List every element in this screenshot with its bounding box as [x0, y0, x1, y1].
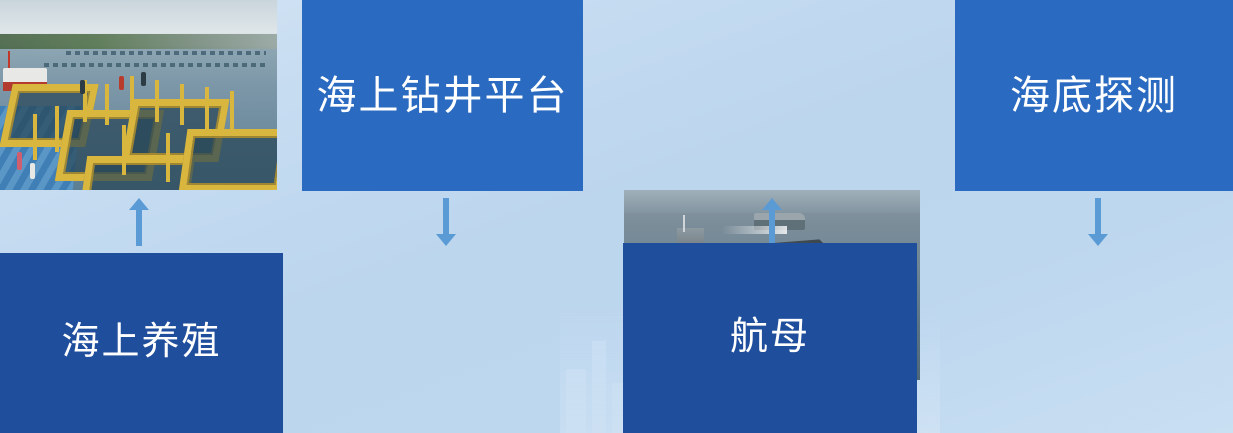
seabed-exploration-tile[interactable]: 海底探测 [955, 0, 1233, 191]
sea-farming-photo [0, 0, 277, 190]
seabed-exploration-label: 海底探测 [1010, 74, 1178, 118]
arrow-seabed-down [1087, 198, 1109, 246]
offshore-aquaculture-label: 海上养殖 [61, 322, 221, 364]
offshore-drilling-platform-tile[interactable]: 海上钻井平台 [302, 0, 583, 191]
offshore-drilling-platform-label: 海上钻井平台 [317, 74, 569, 118]
arrow-drilling-down [435, 198, 457, 246]
offshore-aquaculture-tile[interactable]: 海上养殖 [0, 253, 283, 433]
diagram-canvas: 海上钻井平台 海底探测 [0, 0, 1233, 433]
aircraft-carrier-label: 航母 [730, 317, 810, 359]
arrow-aquaculture-up [128, 198, 150, 246]
arrow-carrier-up [761, 198, 783, 246]
aircraft-carrier-tile[interactable]: 航母 [623, 243, 917, 433]
